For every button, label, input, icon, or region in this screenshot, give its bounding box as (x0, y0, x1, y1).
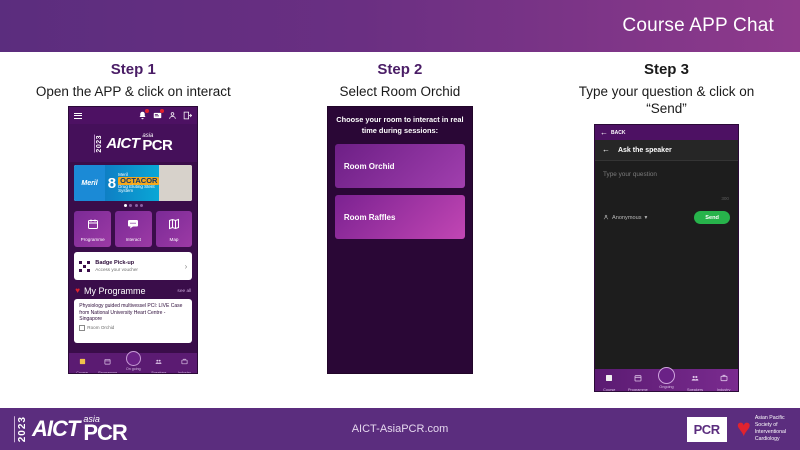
nav-item-speakers[interactable]: Speakers (146, 352, 172, 375)
footer-logo-aict: AICT (32, 416, 79, 442)
question-input[interactable]: Type your question (603, 171, 730, 178)
app-logo-aict: AICT (106, 135, 139, 152)
send-button[interactable]: Send (694, 211, 730, 224)
step-2: Step 2 Select Room Orchid Choose your ro… (267, 56, 534, 406)
session-title: Physiology guided multivessel PCI: LIVE … (79, 303, 187, 323)
app-header-icons (138, 111, 192, 120)
nav3-label-speakers: Speakers (687, 388, 703, 392)
compose-actions: Anonymous ▾ Send (603, 211, 730, 224)
society-line-4: Cardiology (755, 436, 786, 443)
sponsor-brand: Meril (74, 165, 104, 201)
nav3-item-programme[interactable]: Programme (624, 369, 653, 392)
ask-speaker-header: ← Ask the speaker (595, 140, 738, 161)
back-bar[interactable]: ← BACK (595, 125, 738, 140)
course-icon (605, 369, 613, 387)
step-1-description: Open the APP & click on interact (36, 83, 231, 101)
chevron-down-icon: ▾ (645, 215, 648, 221)
apsic-logo: ♥ Asian Pacific Society of Interventiona… (737, 415, 786, 443)
sponsor-image (159, 165, 192, 201)
steps-container: Step 1 Open the APP & click on interact (0, 56, 800, 406)
step-3-description: Type your question & click on “Send” (561, 83, 771, 119)
map-icon (168, 217, 180, 235)
heart-icon: ♥ (737, 417, 751, 441)
calendar-nav-icon (634, 369, 642, 387)
ask-speaker-title: Ask the speaker (618, 147, 672, 154)
nav3-item-speakers[interactable]: Speakers (681, 369, 710, 392)
calendar-nav-icon (104, 352, 111, 370)
nav-label-ongoing: On going (126, 367, 141, 371)
society-line-3: Interventional (755, 429, 786, 436)
nav-label-industry: Industry (178, 371, 191, 375)
nav3-label-ongoing: Ongoing (659, 385, 673, 389)
chat-icon (127, 217, 139, 235)
page-header: Course APP Chat (0, 0, 800, 52)
ongoing-icon (126, 351, 141, 366)
notification-badge (145, 109, 149, 113)
nav-item-programme[interactable]: Programme (95, 352, 121, 375)
nav-label-programme: Programme (98, 371, 117, 375)
person-icon[interactable] (168, 111, 177, 120)
nav3-label-industry: Industry (717, 388, 731, 392)
person-small-icon (603, 214, 609, 222)
tile-map[interactable]: Map (156, 211, 193, 247)
step-3: Step 3 Type your question & click on “Se… (533, 56, 800, 406)
ticket-icon[interactable] (153, 111, 162, 120)
app-logo: 2023 AICT asia PCR (69, 124, 197, 162)
quick-tiles: Programme Interact Map (69, 209, 197, 247)
arrow-left-icon: ← (600, 129, 608, 137)
back-label: BACK (611, 130, 625, 136)
app-logo-year: 2023 (94, 135, 103, 153)
nav-item-course[interactable]: Course (69, 352, 95, 375)
carousel-dots[interactable] (69, 201, 197, 209)
badge-pickup-card[interactable]: Badge Pick-up Access your voucher › (74, 252, 192, 280)
bell-icon[interactable] (138, 111, 147, 120)
ticket-badge (160, 109, 164, 113)
tile-programme[interactable]: Programme (74, 211, 111, 247)
app-logo-pcr: PCR (142, 138, 172, 153)
sponsor-banner[interactable]: Meril 8 Meril OCTACOR Drug Eluting Stent… (74, 165, 192, 201)
room-orchid-button[interactable]: Room Orchid (335, 144, 465, 188)
bottom-nav-step-1: Course Programme On going Speakers (69, 353, 197, 373)
industry-icon (181, 352, 188, 370)
ongoing-icon (658, 367, 675, 384)
nav-item-industry[interactable]: Industry (172, 352, 198, 375)
app-status-bar (69, 107, 197, 124)
society-line-1: Asian Pacific (755, 415, 786, 422)
heart-icon: ♥ (75, 287, 80, 295)
tile-map-label: Map (170, 237, 179, 242)
session-card[interactable]: Physiology guided multivessel PCI: LIVE … (74, 299, 192, 343)
footer-logo-pcr: PCR (83, 422, 126, 444)
tile-programme-label: Programme (81, 237, 105, 242)
back-arrow-icon[interactable]: ← (602, 146, 610, 154)
room-raffles-button[interactable]: Room Raffles (335, 195, 465, 239)
nav-label-course: Course (76, 371, 88, 375)
my-programme-title: My Programme (84, 286, 146, 296)
menu-icon[interactable] (74, 113, 82, 120)
nav3-item-course[interactable]: Course (595, 369, 624, 392)
step-2-description: Select Room Orchid (339, 83, 460, 101)
page-footer: 2023 AICT asia PCR AICT-AsiaPCR.com PCR … (0, 408, 800, 450)
nav3-item-industry[interactable]: Industry (709, 369, 738, 392)
footer-logo: 2023 AICT asia PCR (0, 415, 127, 444)
sponsor-tagline: Drug Eluting Stent System (118, 185, 159, 194)
nav3-item-ongoing[interactable]: Ongoing (652, 372, 681, 389)
room-selection-heading: Choose your room to interact in real tim… (335, 115, 465, 136)
step-3-title: Step 3 (644, 62, 689, 79)
char-counter: 300 (595, 196, 729, 201)
footer-logo-year: 2023 (14, 416, 28, 442)
anonymous-selector[interactable]: Anonymous ▾ (603, 214, 647, 222)
speakers-icon (691, 369, 699, 387)
room-selection-panel: Choose your room to interact in real tim… (327, 106, 473, 374)
logout-icon[interactable] (183, 111, 192, 120)
sponsor-number: 8 (108, 176, 116, 191)
footer-sponsors: PCR ♥ Asian Pacific Society of Intervent… (687, 415, 800, 443)
speakers-icon (155, 352, 162, 370)
qr-icon (79, 261, 90, 272)
calendar-icon (87, 217, 99, 235)
page-title: Course APP Chat (622, 15, 800, 37)
phone-screenshot-step-3: ← BACK ← Ask the speaker Type your quest… (594, 124, 739, 392)
my-programme-header: ♥ My Programme see all (69, 280, 197, 299)
nav3-label-programme: Programme (628, 388, 648, 392)
anonymous-label: Anonymous (612, 215, 642, 221)
session-room-label: Room Orchid (87, 325, 114, 330)
see-all-link[interactable]: see all (177, 289, 191, 294)
phone-screenshot-step-1: 2023 AICT asia PCR Meril 8 Meril OCTACOR… (68, 106, 198, 374)
bottom-nav-step-3: Course Programme Ongoing Speakers (595, 369, 738, 391)
industry-icon (720, 369, 728, 387)
nav-item-ongoing[interactable]: On going (120, 355, 146, 371)
pcr-logo: PCR (687, 417, 727, 442)
badge-pickup-subtitle: Access your voucher (95, 267, 179, 272)
step-1-title: Step 1 (111, 62, 156, 79)
step-2-title: Step 2 (377, 62, 422, 79)
society-line-2: Society of (755, 422, 786, 429)
tile-interact-label: Interact (126, 237, 141, 242)
tile-interact[interactable]: Interact (115, 211, 152, 247)
nav3-label-course: Course (603, 388, 615, 392)
chevron-right-icon: › (185, 262, 188, 271)
course-icon (79, 352, 86, 370)
step-1: Step 1 Open the APP & click on interact (0, 56, 267, 406)
nav-label-speakers: Speakers (151, 371, 166, 375)
room-marker-icon (79, 325, 85, 331)
session-room: Room Orchid (79, 325, 187, 331)
